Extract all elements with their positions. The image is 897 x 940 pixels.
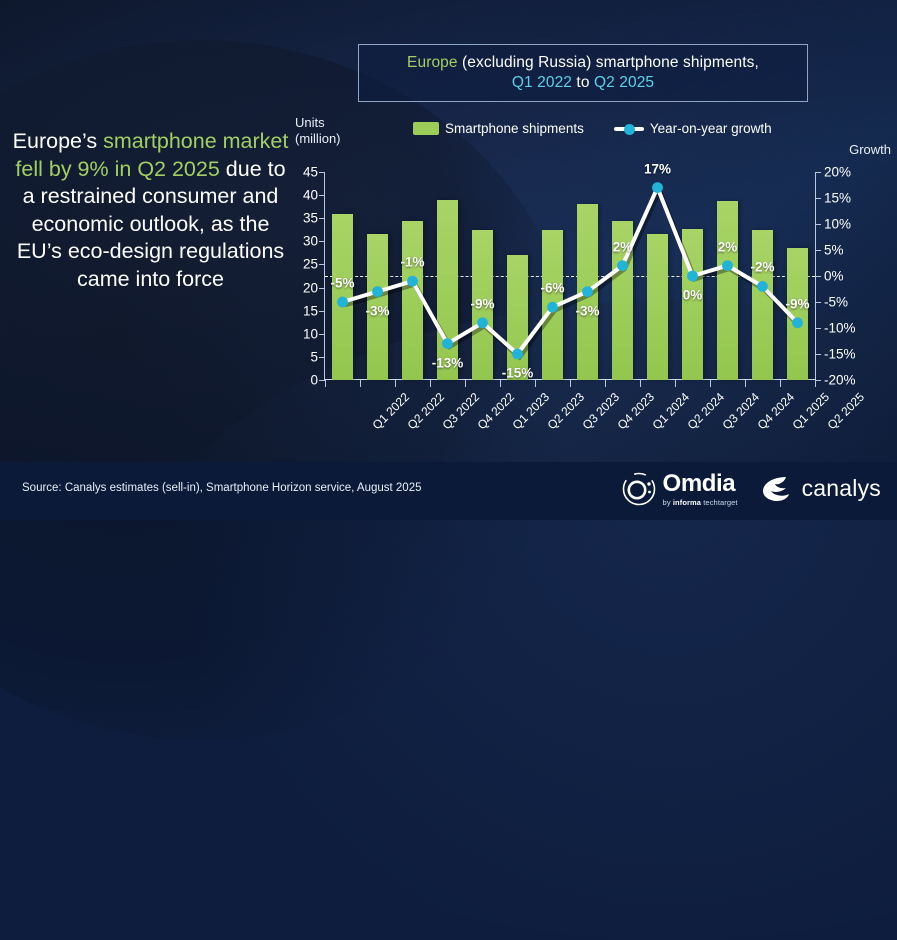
- growth-data-label: -2%: [750, 260, 774, 275]
- growth-marker[interactable]: [407, 276, 418, 287]
- x-axis-label: Q3 2022: [439, 390, 481, 432]
- right-axis-title: Growth: [849, 142, 891, 158]
- y-axis-tick-label: 40: [303, 188, 318, 203]
- x-axis-label: Q4 2024: [754, 390, 796, 432]
- title-rest: (excluding Russia) smartphone shipments,: [458, 54, 759, 71]
- growth-data-label: 17%: [644, 161, 671, 176]
- x-axis-tick: [430, 380, 431, 387]
- y2-axis-tick-label: 0%: [824, 269, 844, 284]
- growth-data-label: -6%: [540, 281, 564, 296]
- growth-marker[interactable]: [582, 286, 593, 297]
- growth-marker[interactable]: [652, 182, 663, 193]
- chart-legend: Smartphone shipments Year-on-year growth: [413, 121, 772, 136]
- growth-data-label: -3%: [575, 303, 599, 318]
- growth-data-label: 2%: [613, 239, 633, 254]
- x-axis-tick: [500, 380, 501, 387]
- y2-axis-tick-label: 10%: [824, 217, 851, 232]
- chart-title-line-1: Europe (excluding Russia) smartphone shi…: [407, 53, 759, 72]
- x-axis-label: Q3 2023: [579, 390, 621, 432]
- y2-axis-tick-label: -15%: [824, 347, 856, 362]
- canalys-name: canalys: [802, 475, 881, 502]
- legend-line-marker-icon: [614, 122, 644, 135]
- chart-title-box: Europe (excluding Russia) smartphone shi…: [358, 44, 808, 102]
- x-axis-tick: [325, 380, 326, 387]
- growth-data-label: -9%: [470, 296, 494, 311]
- legend-item-bars: Smartphone shipments: [413, 121, 584, 136]
- x-axis-labels: Q1 2022Q2 2022Q3 2022Q4 2022Q1 2023Q2 20…: [325, 387, 815, 467]
- x-axis-label: Q2 2023: [544, 390, 586, 432]
- x-axis-tick: [780, 380, 781, 387]
- headline-text: Europe’s smartphone market fell by 9% in…: [8, 128, 293, 293]
- growth-marker[interactable]: [722, 260, 733, 271]
- left-axis-title-line1: Units: [295, 115, 341, 131]
- logo-group: Omdia by informa techtarget canalys: [622, 472, 881, 507]
- title-region: Europe: [407, 54, 458, 71]
- x-axis-label: Q1 2023: [509, 390, 551, 432]
- legend-bars-label: Smartphone shipments: [445, 121, 584, 136]
- y-axis-tick-label: 20: [303, 280, 318, 295]
- legend-bar-swatch-icon: [413, 122, 439, 135]
- plot-area: 051015202530354045-20%-15%-10%-5%0%5%10%…: [325, 172, 815, 380]
- x-axis-tick: [570, 380, 571, 387]
- canalys-logo: canalys: [760, 474, 881, 504]
- y2-axis-tick-label: 15%: [824, 191, 851, 206]
- growth-data-label: -13%: [432, 355, 464, 370]
- y2-axis-tick-label: 5%: [824, 243, 844, 258]
- omdia-tagline-bold: informa: [673, 498, 701, 507]
- title-period-sep: to: [572, 74, 594, 91]
- x-axis-tick: [395, 380, 396, 387]
- omdia-tagline-pre: by: [663, 498, 673, 507]
- y-axis-tick-label: 0: [310, 373, 318, 388]
- y2-axis-tick: [815, 276, 821, 277]
- x-axis-tick: [640, 380, 641, 387]
- x-axis-tick: [605, 380, 606, 387]
- y2-axis-tick: [815, 328, 821, 329]
- x-axis-tick: [815, 380, 816, 387]
- chart-container: Units (million) Growth Smartphone shipme…: [293, 115, 893, 390]
- growth-marker[interactable]: [792, 317, 803, 328]
- x-axis-label: Q2 2022: [404, 390, 446, 432]
- growth-line-series: [325, 172, 815, 380]
- left-axis-title: Units (million): [295, 115, 341, 148]
- title-period-start: Q1 2022: [512, 74, 572, 91]
- x-axis-tick: [465, 380, 466, 387]
- y-axis-tick-label: 45: [303, 165, 318, 180]
- growth-data-label: -1%: [400, 255, 424, 270]
- x-axis-label: Q4 2022: [474, 390, 516, 432]
- y2-axis-tick: [815, 198, 821, 199]
- source-note: Source: Canalys estimates (sell-in), Sma…: [22, 482, 422, 494]
- x-axis-tick: [675, 380, 676, 387]
- y-axis-tick-label: 5: [310, 349, 318, 364]
- growth-marker[interactable]: [757, 281, 768, 292]
- x-axis-tick: [360, 380, 361, 387]
- y2-axis-tick-label: 20%: [824, 165, 851, 180]
- growth-data-label: -15%: [502, 366, 534, 381]
- y-axis-tick-label: 35: [303, 211, 318, 226]
- growth-marker[interactable]: [372, 286, 383, 297]
- omdia-logo: Omdia by informa techtarget: [622, 472, 738, 507]
- x-axis-tick: [710, 380, 711, 387]
- y2-axis-tick-label: -10%: [824, 321, 856, 336]
- omdia-tagline: by informa techtarget: [663, 499, 738, 507]
- legend-item-line: Year-on-year growth: [614, 121, 772, 136]
- x-axis-tick: [535, 380, 536, 387]
- y-axis-tick-label: 10: [303, 326, 318, 341]
- growth-data-label: -5%: [330, 276, 354, 291]
- left-axis-title-line2: (million): [295, 131, 341, 147]
- headline-seg-1: Europe’s: [13, 129, 103, 153]
- x-axis-label: Q1 2024: [649, 390, 691, 432]
- x-axis-label: Q1 2022: [369, 390, 411, 432]
- y2-axis-tick-label: -20%: [824, 373, 856, 388]
- x-axis-label: Q2 2024: [684, 390, 726, 432]
- y-axis-tick-label: 30: [303, 234, 318, 249]
- y-axis-tick-label: 15: [303, 303, 318, 318]
- growth-marker[interactable]: [617, 260, 628, 271]
- legend-line-label: Year-on-year growth: [650, 121, 772, 136]
- omdia-tagline-post: techtarget: [701, 498, 738, 507]
- chart-title-line-2: Q1 2022 to Q2 2025: [512, 73, 654, 92]
- title-period-end: Q2 2025: [594, 74, 654, 91]
- y-axis-tick-label: 25: [303, 257, 318, 272]
- omdia-mark-icon: [622, 472, 656, 506]
- y2-axis-tick: [815, 354, 821, 355]
- growth-data-label: 0%: [683, 288, 703, 303]
- y2-axis-tick: [815, 224, 821, 225]
- growth-marker[interactable]: [687, 271, 698, 282]
- growth-marker[interactable]: [337, 297, 348, 308]
- y2-axis-tick-label: -5%: [824, 295, 848, 310]
- growth-data-label: 2%: [718, 239, 738, 254]
- omdia-text-block: Omdia by informa techtarget: [663, 472, 738, 507]
- growth-line-shadow: [345, 191, 800, 357]
- growth-marker[interactable]: [512, 349, 523, 360]
- growth-data-label: -9%: [785, 296, 809, 311]
- x-axis-label: Q3 2024: [719, 390, 761, 432]
- growth-data-label: -3%: [365, 303, 389, 318]
- y2-axis-tick: [815, 302, 821, 303]
- growth-marker[interactable]: [477, 317, 488, 328]
- omdia-name: Omdia: [663, 472, 738, 496]
- growth-marker[interactable]: [547, 302, 558, 313]
- y2-axis-tick: [815, 250, 821, 251]
- growth-marker[interactable]: [442, 338, 453, 349]
- x-axis-tick: [745, 380, 746, 387]
- y2-axis-tick: [815, 172, 821, 173]
- x-axis-label: Q4 2023: [614, 390, 656, 432]
- canalys-mark-icon: [760, 474, 794, 504]
